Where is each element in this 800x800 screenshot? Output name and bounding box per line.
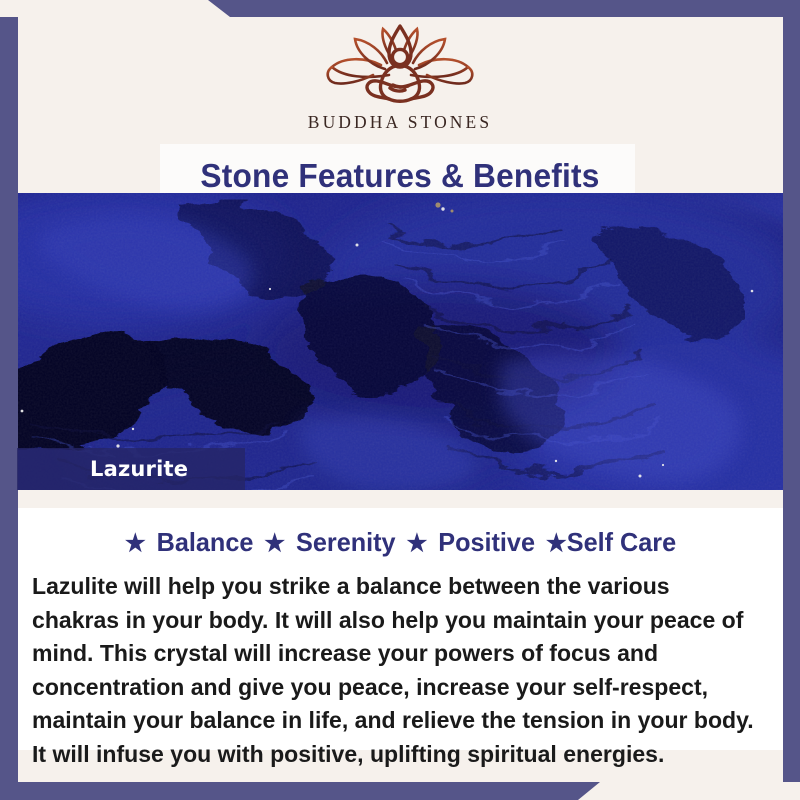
benefit-star-1: ★ [125, 530, 146, 557]
top-accent-band [0, 0, 800, 17]
cream-divider [18, 490, 783, 508]
stone-info-card: BUDDHA STONES Stone Features & Benefits [0, 0, 800, 800]
benefit-star-2: ★ [264, 530, 285, 557]
header: BUDDHA STONES Stone Features & Benefits [0, 17, 800, 193]
stone-texture [0, 193, 800, 490]
benefit-star-3: ★ [406, 530, 427, 557]
benefit-label-1: Serenity [296, 527, 396, 557]
benefit-label-0: Balance [157, 527, 254, 557]
benefit-star-4: ★ [546, 530, 567, 557]
stone-description: Lazulite will help you strike a balance … [32, 570, 758, 771]
benefit-label-3: Self Care [567, 527, 676, 557]
right-accent-border [783, 17, 800, 782]
benefit-label-2: Positive [438, 527, 535, 557]
left-accent-border [0, 17, 18, 782]
stone-caption: Lazurite [90, 448, 188, 490]
brand-logo: BUDDHA STONES [0, 17, 800, 142]
bottom-accent-band [0, 782, 800, 800]
lazurite-stone-photo [0, 193, 800, 490]
content-panel: ★ Balance ★ Serenity ★ Positive ★Self Ca… [18, 508, 783, 750]
benefits-row: ★ Balance ★ Serenity ★ Positive ★Self Ca… [29, 527, 771, 558]
lotus-meditation-icon [305, 23, 495, 111]
brand-name: BUDDHA STONES [308, 112, 492, 133]
